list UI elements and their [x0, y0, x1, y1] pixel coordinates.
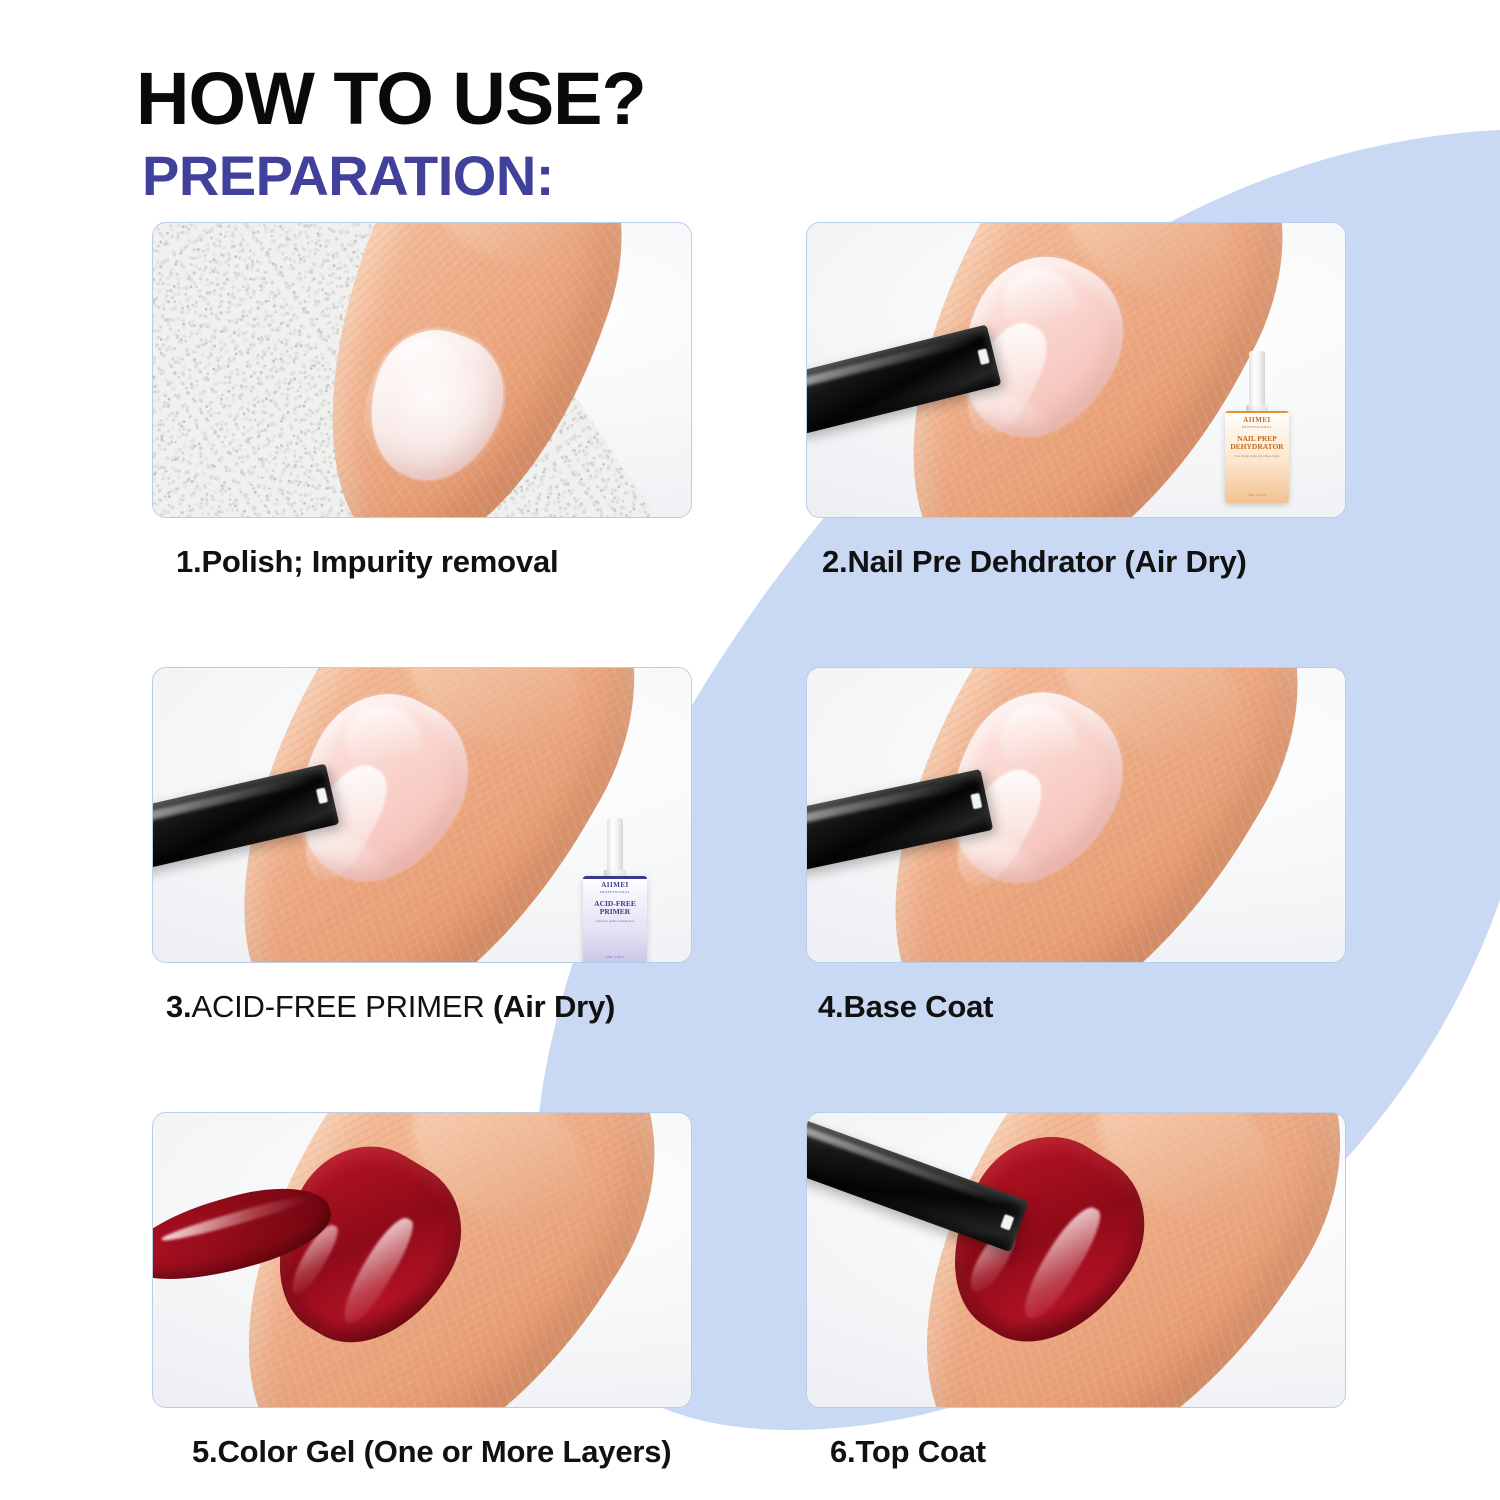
step-card-5: 5.Color Gel (One or More Layers) [152, 1112, 692, 1470]
bottle-name-line-2: DEHYDRATOR [1230, 443, 1283, 451]
step-5-photo [152, 1112, 692, 1408]
acid-free-primer-bottle: AIIMEI PROFESSIONAL ACID-FREE PRIMER Aci… [583, 818, 647, 962]
bottle-description: Acid free, gentle bonding base [595, 919, 634, 923]
bottle-brand-sub: PROFESSIONAL [600, 890, 630, 894]
step-3-caption: 3.ACID-FREE PRIMER (Air Dry) [166, 989, 692, 1025]
page-subtitle: PREPARATION: [142, 148, 646, 204]
bottle-brand: AIIMEI [601, 881, 629, 889]
step-6-photo [806, 1112, 1346, 1408]
step-4-photo [806, 667, 1346, 963]
step-3-caption-suffix: (Air Dry) [493, 989, 615, 1024]
step-2-photo: AIIMEI PROFESSIONAL NAIL PREP DEHYDRATOR… [806, 222, 1346, 518]
steps-row-2: AIIMEI PROFESSIONAL ACID-FREE PRIMER Aci… [0, 667, 1500, 1112]
step-card-6: 6.Top Coat [806, 1112, 1346, 1470]
step-card-2: AIIMEI PROFESSIONAL NAIL PREP DEHYDRATOR… [806, 222, 1346, 580]
step-2-caption: 2.Nail Pre Dehdrator (Air Dry) [822, 544, 1346, 580]
step-4-caption: 4.Base Coat [818, 989, 1346, 1025]
bottle-volume: 15ml / 0.5fl.oz [1225, 493, 1289, 497]
step-3-photo: AIIMEI PROFESSIONAL ACID-FREE PRIMER Aci… [152, 667, 692, 963]
step-1-photo [152, 222, 692, 518]
bottle-description: Fast drying, helps gel adhere better [1235, 454, 1280, 458]
step-1-caption: 1.Polish; Impurity removal [176, 544, 692, 580]
heading-block: HOW TO USE? PREPARATION: [136, 62, 646, 204]
step-card-3: AIIMEI PROFESSIONAL ACID-FREE PRIMER Aci… [152, 667, 692, 1025]
steps-row-1: 1.Polish; Impurity removal [0, 222, 1500, 667]
steps-row-3: 5.Color Gel (One or More Layers) [0, 1112, 1500, 1500]
step-card-4: 4.Base Coat [806, 667, 1346, 1025]
page-title: HOW TO USE? [136, 62, 646, 136]
step-card-1: 1.Polish; Impurity removal [152, 222, 692, 580]
step-6-caption: 6.Top Coat [830, 1434, 1346, 1470]
steps-grid: 1.Polish; Impurity removal [0, 222, 1500, 1500]
bottle-name-line-2: PRIMER [594, 908, 636, 916]
step-3-caption-body: ACID-FREE PRIMER [191, 989, 492, 1024]
nail-prep-dehydrator-bottle: AIIMEI PROFESSIONAL NAIL PREP DEHYDRATOR… [1225, 351, 1289, 503]
bottle-brand: AIIMEI [1243, 416, 1271, 424]
bottle-volume: 15ml / 0.5fl.oz [583, 955, 647, 959]
bottle-brand-sub: PROFESSIONAL [1242, 425, 1272, 429]
infographic-page: HOW TO USE? PREPARATION: [0, 0, 1500, 1500]
step-3-caption-number: 3. [166, 989, 191, 1024]
step-5-caption: 5.Color Gel (One or More Layers) [192, 1434, 692, 1470]
